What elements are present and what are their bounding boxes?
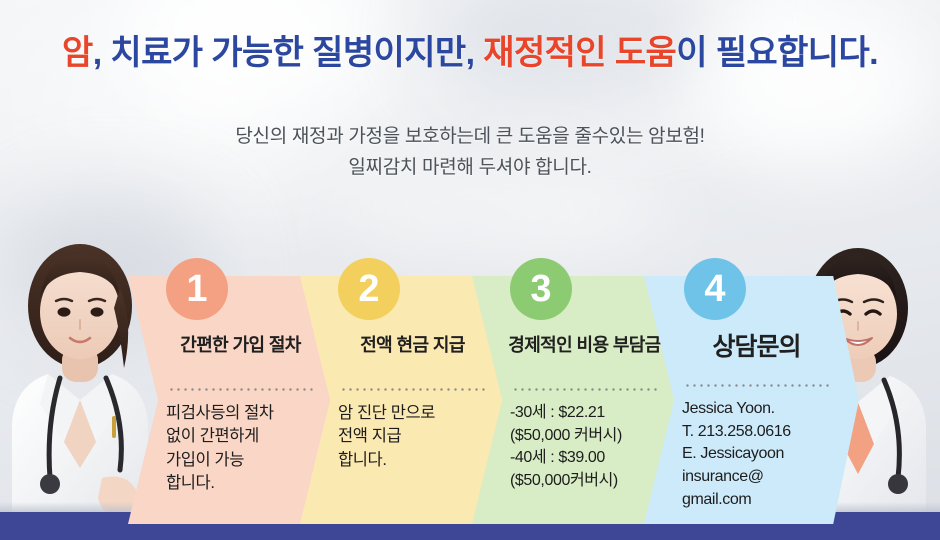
headline-accent-cancer: 암 (62, 34, 93, 72)
contact-email-line3[interactable]: gmail.com (682, 489, 833, 512)
step-card-3-content: 경제적인 비용 부담금 -30세 : $22.21 ($50,000 커버시) … (508, 276, 661, 524)
headline: 암, 치료가 가능한 질병이지만, 재정적인 도움이 필요합니다. (0, 34, 940, 73)
subheadline-line-1: 당신의 재정과 가정을 보호하는데 큰 도움을 줄수있는 암보험! (0, 122, 940, 153)
step-card-1-content: 간편한 가입 절차 피검사등의 절차 없이 간편하게 가입이 가능 합니다. (164, 276, 317, 524)
step-card-1-title: 간편한 가입 절차 (164, 334, 317, 357)
step-card-2-body-line: 암 진단 만으로 (338, 402, 489, 425)
step-card-3-divider (512, 388, 657, 391)
step-card-3-price-age40: -40세 : $39.00 (510, 447, 661, 470)
step-card-3-coverage-age30: ($50,000 커버시) (510, 425, 661, 448)
step-card-2-content: 전액 현금 지급 암 진단 만으로 전액 지급 합니다. (336, 276, 489, 524)
step-card-3-price-age30: -30세 : $22.21 (510, 402, 661, 425)
step-card-3-title: 경제적인 비용 부담금 (508, 334, 661, 357)
step-card-3-body: -30세 : $22.21 ($50,000 커버시) -40세 : $39.0… (510, 402, 661, 493)
step-card-1-title-line1: 간편한 가입 (180, 335, 264, 355)
step-card-4-content: 상담문의 Jessica Yoon. T. 213.258.0616 E. Je… (680, 276, 833, 524)
step-card-4-body: Jessica Yoon. T. 213.258.0616 E. Jessica… (682, 398, 833, 512)
steps-container: 간편한 가입 절차 피검사등의 절차 없이 간편하게 가입이 가능 합니다. 전… (0, 276, 940, 528)
step-card-1-body-line: 가입이 가능 (166, 449, 317, 472)
poster-canvas: 암, 치료가 가능한 질병이지만, 재정적인 도움이 필요합니다. 당신의 재정… (0, 0, 940, 540)
step-card-1-body-line: 피검사등의 절차 (166, 402, 317, 425)
contact-agent-name: Jessica Yoon. (682, 398, 833, 421)
step-card-2-body: 암 진단 만으로 전액 지급 합니다. (338, 402, 489, 472)
step-card-4-title-line1: 상담문의 (712, 333, 800, 361)
headline-accent-financial-help: 재정적인 도움 (483, 34, 676, 72)
step-card-3-title-line2: 부담금 (613, 335, 661, 355)
contact-email-line2[interactable]: insurance@ (682, 466, 833, 489)
subheadline: 당신의 재정과 가정을 보호하는데 큰 도움을 줄수있는 암보험! 일찌감치 마… (0, 122, 940, 184)
step-card-1-body-line: 합니다. (166, 472, 317, 495)
step-card-1-divider (168, 388, 313, 391)
step-card-2-title-line2: 지급 (433, 335, 465, 355)
step-card-3-coverage-age40: ($50,000커버시) (510, 470, 661, 493)
contact-phone[interactable]: T. 213.258.0616 (682, 421, 833, 444)
step-card-1-body-line: 없이 간편하게 (166, 425, 317, 448)
step-card-4-title: 상담문의 (680, 332, 833, 363)
step-card-4[interactable]: 상담문의 Jessica Yoon. T. 213.258.0616 E. Je… (644, 276, 859, 524)
step-card-2-title: 전액 현금 지급 (336, 334, 489, 357)
step-card-2-body-line: 합니다. (338, 449, 489, 472)
headline-tail-text: 이 필요합니다. (676, 34, 878, 72)
contact-email-line1[interactable]: E. Jessicayoon (682, 443, 833, 466)
step-card-1-body: 피검사등의 절차 없이 간편하게 가입이 가능 합니다. (166, 402, 317, 496)
step-card-1-title-line2: 절차 (269, 335, 301, 355)
step-card-2-body-line: 전액 지급 (338, 425, 489, 448)
step-card-3-title-line1: 경제적인 비용 (508, 335, 608, 355)
step-card-4-divider (684, 384, 829, 387)
subheadline-line-2: 일찌감치 마련해 두셔야 합니다. (0, 153, 940, 184)
step-card-2-divider (340, 388, 485, 391)
headline-mid-text: , 치료가 가능한 질병이지만, (93, 34, 484, 72)
step-card-2-title-line1: 전액 현금 (360, 335, 428, 355)
